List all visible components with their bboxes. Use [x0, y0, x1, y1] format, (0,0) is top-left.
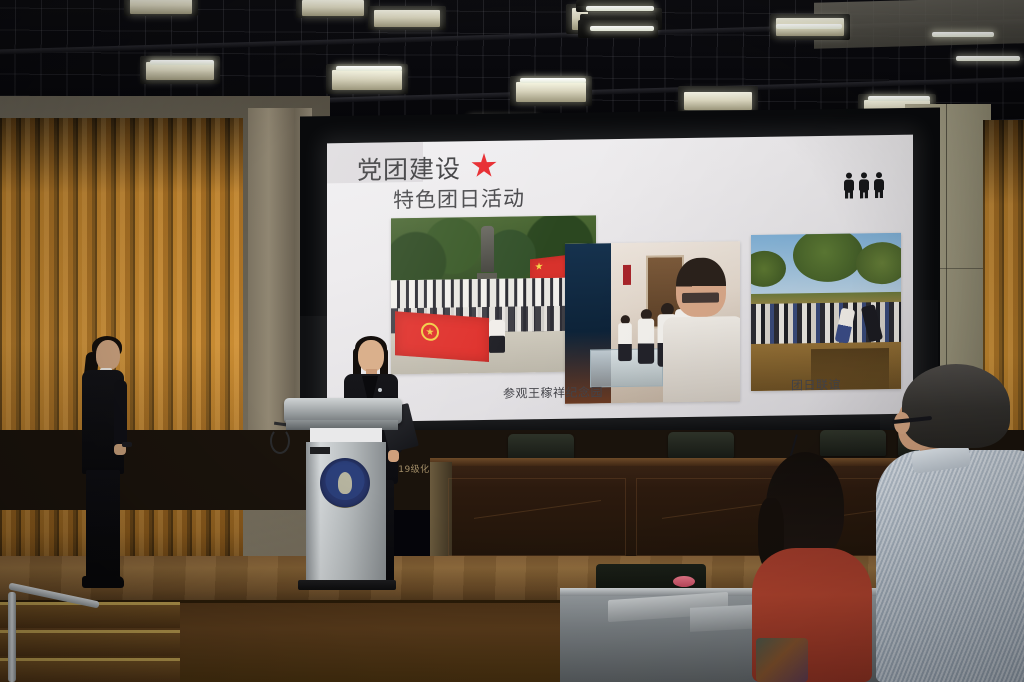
- three-people-icon: [843, 167, 887, 198]
- university-emblem: [320, 458, 370, 508]
- slide-subtitle: 特色团日活动: [393, 182, 525, 214]
- ceiling-light: [374, 10, 440, 27]
- shoes: [82, 576, 124, 588]
- judge-chair: [508, 434, 574, 460]
- arm: [114, 380, 127, 450]
- microphone-cable: [270, 428, 290, 454]
- red-star-icon: [471, 153, 497, 179]
- ceiling-light: [130, 0, 192, 14]
- person-figure: [858, 172, 870, 197]
- ceiling-light: [684, 92, 752, 110]
- light-tube: [932, 32, 994, 37]
- face: [96, 340, 120, 370]
- patterned-garment: [756, 638, 808, 682]
- pink-object-on-desk: [673, 576, 695, 587]
- light-tube: [586, 6, 654, 11]
- audience-man-blue-shirt: [876, 364, 1024, 682]
- light-tube: [956, 56, 1020, 61]
- audience-woman-red-top: [752, 452, 874, 682]
- person-figure: [873, 172, 885, 197]
- speaker-podium: [296, 398, 394, 588]
- ceiling-light: [302, 0, 364, 16]
- ceiling-light: [516, 82, 586, 102]
- face: [358, 340, 384, 372]
- table-panel: [448, 478, 626, 556]
- light-tube: [776, 24, 842, 29]
- trousers: [86, 470, 120, 580]
- light-tube: [868, 96, 930, 101]
- stair-handrail: [8, 592, 16, 682]
- light-tube: [150, 60, 214, 65]
- step: [0, 658, 180, 682]
- projected-slide: 党团建设 特色团日活动: [327, 135, 913, 423]
- person-figure: [843, 173, 855, 198]
- light-tube: [336, 66, 402, 71]
- museum-visit-photo: [565, 241, 740, 404]
- photo-caption-left: 参观王稼祥纪念园: [503, 383, 603, 401]
- judge-chair: [668, 432, 734, 458]
- striped-shirt: [876, 450, 1024, 682]
- photo-caption-right: 团日联谊: [791, 376, 841, 394]
- presentation-clicker: [122, 442, 132, 447]
- light-tube: [520, 78, 586, 83]
- auditorium-scene: 党团建设 特色团日活动: [0, 0, 1024, 682]
- ceiling-light: [332, 70, 402, 90]
- hair: [902, 364, 1010, 448]
- stage-steps: [0, 602, 180, 682]
- standing-woman-left: [72, 336, 130, 594]
- slide-title: 党团建设: [357, 149, 461, 187]
- podium-control-plate: [310, 447, 330, 454]
- lapel-pin: [378, 388, 382, 392]
- step: [0, 630, 180, 656]
- podium-base: [298, 580, 396, 590]
- light-tube: [590, 26, 654, 31]
